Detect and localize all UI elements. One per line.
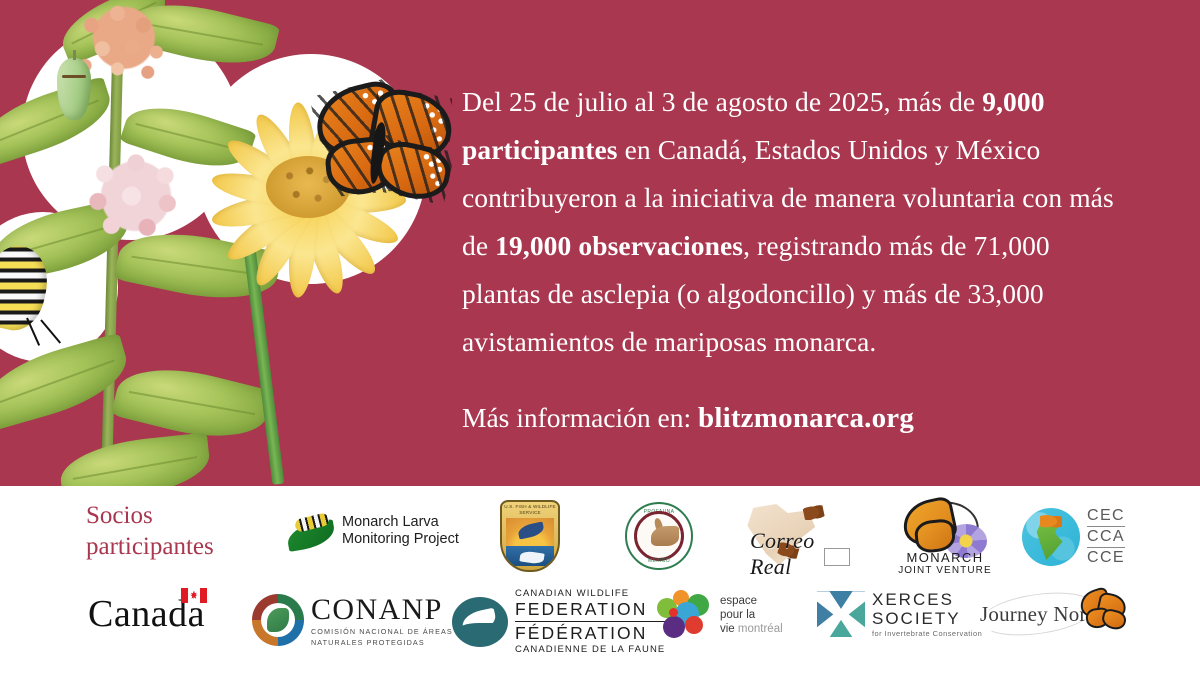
cec-line3: CCE (1087, 547, 1125, 568)
monarch-chrysalis-icon (57, 58, 91, 120)
profauna-bottom-text: MÉXICO (627, 558, 691, 564)
mjv-line2: JOINT VENTURE (893, 565, 997, 576)
fws-shield-icon: U.S. FISH & WILDLIFE SERVICE (500, 500, 560, 572)
correo-real-badge (824, 548, 850, 566)
monarch-joint-venture-mark: MONARCH JOINT VENTURE (893, 498, 997, 574)
partners-heading-line2: participantes (86, 531, 214, 562)
summary-paragraph: Del 25 de julio al 3 de agosto de 2025, … (462, 78, 1134, 366)
cta-label: Más información en: (462, 402, 698, 433)
hero-banner: Del 25 de julio al 3 de agosto de 2025, … (0, 0, 1200, 486)
website-link[interactable]: blitzmonarca.org (698, 402, 914, 434)
fws-shield-text: U.S. FISH & WILDLIFE SERVICE (502, 504, 558, 515)
cwf-divider (515, 621, 665, 623)
cwf-line4: CANADIENNE DE LA FAUNE (515, 644, 665, 655)
cec-line1: CEC (1087, 506, 1125, 526)
conanp-wordmark: CONANP COMISIÓN NACIONAL DE ÁREAS NATURA… (311, 592, 453, 649)
logo-monarch-joint-venture[interactable]: MONARCH JOINT VENTURE (893, 498, 997, 574)
correo-real-mark: Correo Real (740, 500, 860, 572)
epv-line1: espace (720, 594, 783, 608)
mlmp-line2: Monitoring Project (342, 531, 459, 548)
pronghorn-head-icon (651, 526, 679, 546)
poster: Del 25 de julio al 3 de agosto de 2025, … (0, 0, 1200, 684)
logo-profauna-mexico[interactable]: PROFAUNA MÉXICO (625, 502, 693, 570)
logo-cec[interactable]: CEC CCA CCE (1022, 506, 1125, 568)
cwf-wordmark: CANADIAN WILDLIFE FEDERATION FÉDÉRATION … (515, 588, 665, 655)
mlmp-wordmark: Monarch Larva Monitoring Project (342, 514, 459, 548)
partners-heading: Socios participantes (86, 500, 214, 562)
butterfly-icon (1040, 514, 1062, 530)
cwf-line2: FEDERATION (515, 599, 665, 620)
xerces-line2: SOCIETY (872, 609, 982, 628)
cwf-line1: CANADIAN WILDLIFE (515, 588, 665, 599)
monarch-butterfly-icon (300, 86, 450, 218)
epv-line3: vie (720, 623, 738, 635)
logo-monarch-larva-monitoring-project[interactable]: Monarch Larva Monitoring Project (287, 514, 459, 548)
milkweed-leaf-icon (57, 432, 212, 486)
logo-espace-pour-la-vie[interactable]: espace pour la vie montréal (655, 590, 783, 640)
xerces-tagline: for Invertebrate Conservation (872, 630, 982, 639)
cta-line: Más información en: blitzmonarca.org (462, 398, 1134, 438)
monarch-butterfly-icon (1078, 590, 1130, 634)
partners-heading-line1: Socios (86, 500, 214, 531)
mjv-line1: MONARCH (893, 550, 997, 565)
espace-pour-la-vie-emblem-icon (655, 590, 713, 640)
cec-globe-icon (1022, 508, 1080, 566)
hero-copy: Del 25 de julio al 3 de agosto de 2025, … (462, 78, 1134, 438)
xerces-x-icon (817, 591, 865, 637)
logo-canadian-wildlife-federation[interactable]: CANADIAN WILDLIFE FEDERATION FÉDÉRATION … (452, 588, 665, 655)
conanp-text: CONANP (311, 592, 453, 627)
canada-wordmark: Canada (88, 592, 205, 636)
caterpillar-on-leaf-icon (287, 514, 335, 548)
milkweed-flower-cluster-icon (80, 150, 192, 242)
logo-us-fish-and-wildlife-service[interactable]: U.S. FISH & WILDLIFE SERVICE (500, 500, 560, 572)
epv-line3-city: montréal (738, 623, 783, 635)
profauna-seal-icon: PROFAUNA MÉXICO (625, 502, 693, 570)
xerces-line1: XERCES (872, 590, 982, 609)
epv-wordmark: espace pour la vie montréal (720, 594, 783, 636)
butterfly-icon (803, 504, 826, 524)
artwork-collage (0, 0, 452, 486)
logo-government-of-canada[interactable]: Canada (88, 592, 205, 636)
logo-conanp[interactable]: CONANP COMISIÓN NACIONAL DE ÁREAS NATURA… (252, 592, 453, 649)
cec-line2: CCA (1087, 526, 1125, 547)
conanp-subtitle-2: NATURALES PROTEGIDAS (311, 638, 453, 649)
conanp-emblem-icon (252, 594, 304, 646)
cwf-line3: FÉDÉRATION (515, 623, 665, 644)
journey-north-mark: Journey North (980, 592, 1130, 640)
paragraph-part-1: Del 25 de julio al 3 de agosto de 2025, … (462, 86, 982, 117)
epv-line2: pour la (720, 608, 783, 622)
mlmp-line1: Monarch Larva (342, 514, 459, 531)
cec-wordmark: CEC CCA CCE (1087, 506, 1125, 568)
logo-journey-north[interactable]: Journey North (980, 592, 1130, 640)
logo-correo-real[interactable]: Correo Real (740, 500, 860, 572)
canadian-flag-icon (181, 588, 207, 603)
xerces-wordmark: XERCES SOCIETY for Invertebrate Conserva… (872, 590, 982, 639)
stat-observations: 19,000 observaciones (495, 230, 743, 261)
logo-xerces-society[interactable]: XERCES SOCIETY for Invertebrate Conserva… (817, 590, 982, 639)
conanp-subtitle-1: COMISIÓN NACIONAL DE ÁREAS (311, 627, 453, 638)
goose-icon (452, 597, 508, 647)
